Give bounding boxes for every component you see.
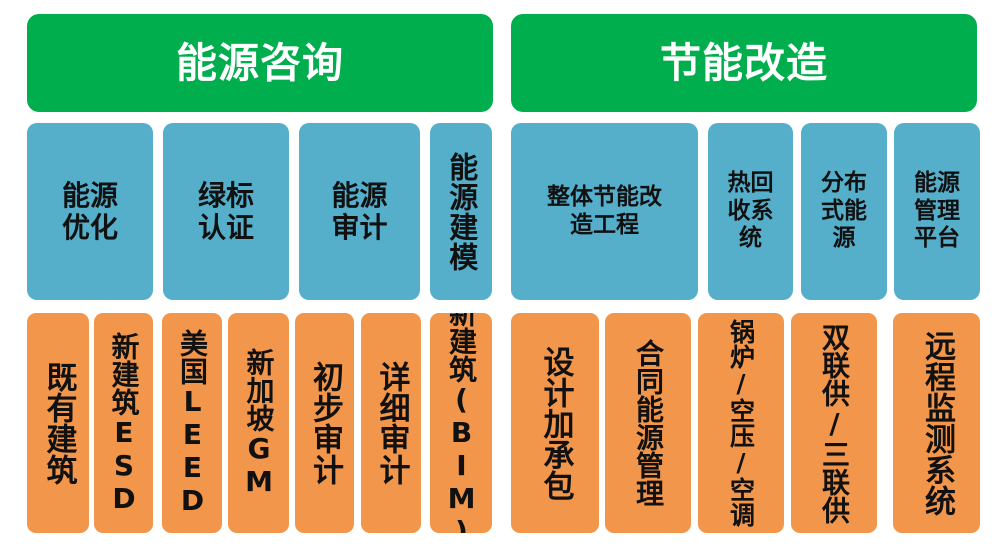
group-energy-saving-retrofit: 节能改造 整体节能改 造工程 热回 收系 统 分布 式能 xyxy=(501,0,1002,555)
process-diagram: 能源咨询 能源 优化 绿标 认证 能源 审计 xyxy=(0,0,1002,555)
bottom-card-label: 既有建筑 xyxy=(43,361,74,485)
mid-card-line1: 分布 xyxy=(821,170,867,198)
mid-card-line1: 绿标 xyxy=(198,180,254,212)
mid-card-line2: 造工程 xyxy=(547,212,662,240)
bottom-card-detailed-audit[interactable]: 详细审计 xyxy=(361,313,421,533)
mid-card-line2: 管理 xyxy=(914,198,960,226)
mid-card-energy-audit[interactable]: 能源 审计 xyxy=(299,123,420,300)
bottom-card-label: 详细审计 xyxy=(376,361,407,485)
mid-card-distributed-energy[interactable]: 分布 式能 源 xyxy=(801,123,887,300)
mid-card-line1: 热回 xyxy=(728,170,774,198)
bottom-card-contract-energy-management[interactable]: 合同能源管理 xyxy=(605,313,691,533)
mid-card-heat-recovery-system[interactable]: 热回 收系 统 xyxy=(708,123,793,300)
bottom-card-label: 双联供/三联供 xyxy=(820,323,848,524)
bottom-card-label: 新建筑ESD xyxy=(110,332,138,515)
mid-row-energy-consulting: 能源 优化 绿标 认证 能源 审计 能源建模 xyxy=(0,123,501,300)
bottom-card-remote-monitoring-system[interactable]: 远程监测系统 xyxy=(893,313,980,533)
mid-card-label: 能源 优化 xyxy=(58,178,122,246)
mid-card-line1: 能源 xyxy=(914,170,960,198)
group-energy-consulting: 能源咨询 能源 优化 绿标 认证 能源 审计 xyxy=(0,0,501,555)
bottom-card-usa-leed[interactable]: 美国LEED xyxy=(162,313,222,533)
mid-card-line3: 统 xyxy=(728,225,774,253)
mid-card-overall-retrofit-project[interactable]: 整体节能改 造工程 xyxy=(511,123,698,300)
mid-card-line2: 审计 xyxy=(331,212,387,244)
group-header-energy-saving-retrofit[interactable]: 节能改造 xyxy=(511,14,977,112)
mid-card-line1: 能源 xyxy=(331,180,387,212)
bottom-card-boiler-air-compressor-hvac[interactable]: 锅炉/空压/空调 xyxy=(698,313,784,533)
bottom-card-label: 新加坡GM xyxy=(245,348,273,498)
bottom-card-label: 美国LEED xyxy=(178,329,206,517)
mid-card-green-label-certification[interactable]: 绿标 认证 xyxy=(163,123,289,300)
mid-card-line1: 能源 xyxy=(62,180,118,212)
mid-card-energy-management-platform[interactable]: 能源 管理 平台 xyxy=(894,123,980,300)
mid-card-energy-modeling[interactable]: 能源建模 xyxy=(430,123,492,300)
bottom-row-energy-saving-retrofit: 设计加承包 合同能源管理 锅炉/空压/空调 双联供/三联供 远程监测系统 xyxy=(501,313,1002,533)
mid-card-label: 能源 管理 平台 xyxy=(910,168,964,255)
bottom-card-new-building-esd[interactable]: 新建筑ESD xyxy=(94,313,153,533)
mid-card-line2: 认证 xyxy=(198,212,254,244)
mid-card-line2: 式能 xyxy=(821,198,867,226)
bottom-card-singapore-gm[interactable]: 新加坡GM xyxy=(228,313,289,533)
bottom-card-dual-tri-generation[interactable]: 双联供/三联供 xyxy=(791,313,877,533)
bottom-card-preliminary-audit[interactable]: 初步审计 xyxy=(295,313,354,533)
bottom-card-label: 合同能源管理 xyxy=(634,339,662,507)
bottom-card-existing-building[interactable]: 既有建筑 xyxy=(27,313,89,533)
mid-card-line3: 源 xyxy=(821,225,867,253)
mid-card-label: 绿标 认证 xyxy=(194,178,258,246)
bottom-card-design-and-contracting[interactable]: 设计加承包 xyxy=(511,313,599,533)
mid-row-energy-saving-retrofit: 整体节能改 造工程 热回 收系 统 分布 式能 源 xyxy=(501,123,1002,300)
bottom-card-new-building-bim[interactable]: 新建筑(BIM) xyxy=(430,313,492,533)
group-header-label: 能源咨询 xyxy=(176,43,344,84)
mid-card-line3: 平台 xyxy=(914,225,960,253)
bottom-card-label: 锅炉/空压/空调 xyxy=(729,319,754,527)
bottom-card-label: 远程监测系统 xyxy=(921,330,952,516)
mid-card-line2: 收系 xyxy=(728,198,774,226)
group-header-label: 节能改造 xyxy=(660,43,828,84)
bottom-card-label: 设计加承包 xyxy=(540,346,571,501)
mid-card-energy-optimization[interactable]: 能源 优化 xyxy=(27,123,153,300)
mid-card-label: 能源 审计 xyxy=(327,178,391,246)
mid-card-label: 能源建模 xyxy=(442,150,480,274)
group-header-energy-consulting[interactable]: 能源咨询 xyxy=(27,14,493,112)
bottom-card-label: 初步审计 xyxy=(309,361,340,485)
mid-card-label: 热回 收系 统 xyxy=(724,168,778,255)
bottom-row-energy-consulting: 既有建筑 新建筑ESD 美国LEED 新加坡GM 初步审计 详细审计 新建筑(B… xyxy=(0,313,501,533)
mid-card-line2: 优化 xyxy=(62,212,118,244)
mid-card-label: 分布 式能 源 xyxy=(817,168,871,255)
mid-card-line1: 整体节能改 xyxy=(547,184,662,212)
bottom-card-label: 新建筑(BIM) xyxy=(447,313,475,533)
mid-card-label: 整体节能改 造工程 xyxy=(543,182,666,241)
